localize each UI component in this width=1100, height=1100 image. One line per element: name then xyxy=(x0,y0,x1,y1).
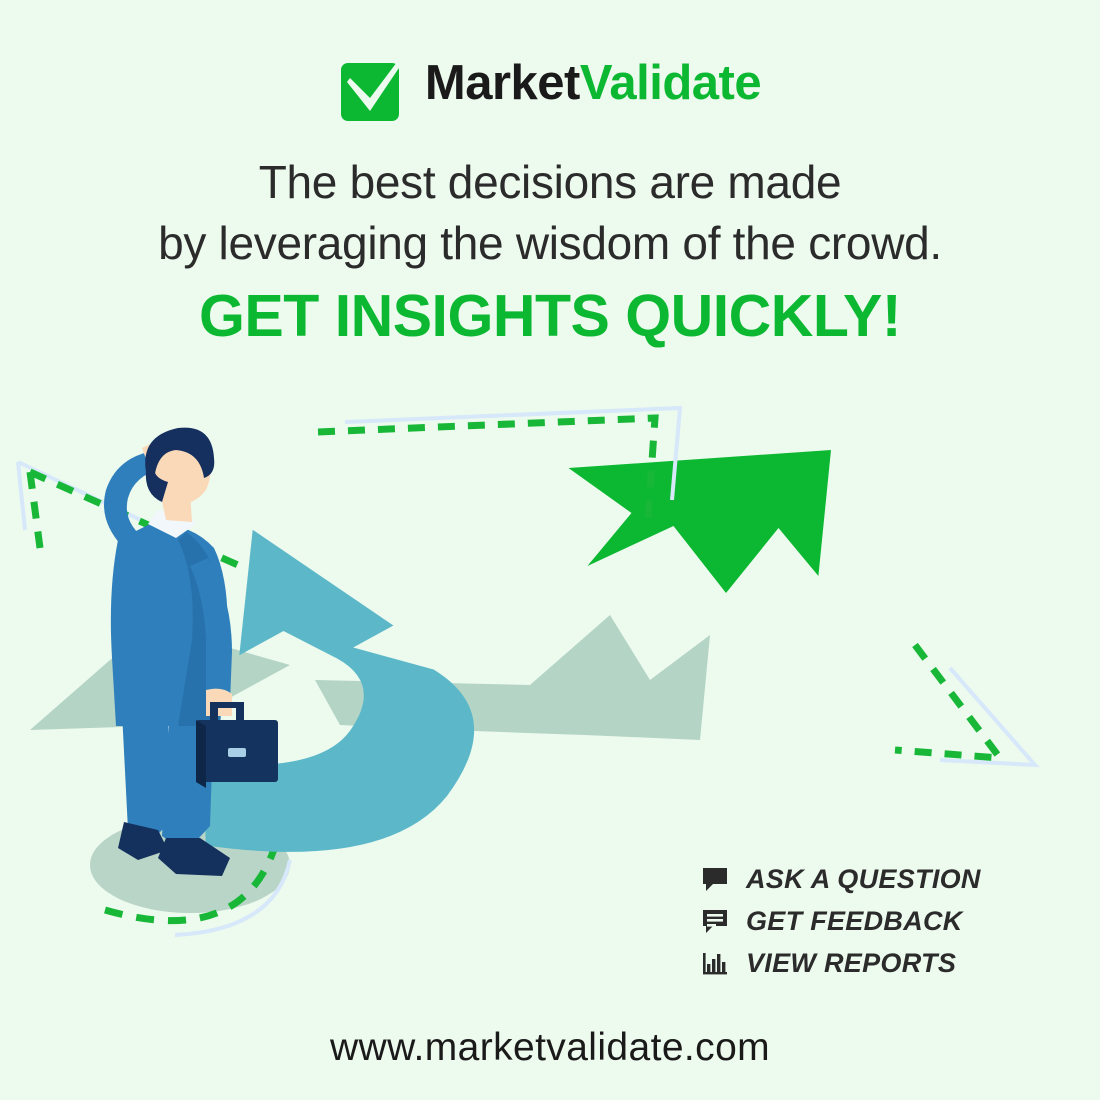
brand-name: MarketValidate xyxy=(425,59,761,110)
feature-label: VIEW REPORTS xyxy=(746,948,956,979)
brand-name-part1: Market xyxy=(425,56,580,110)
feature-label: GET FEEDBACK xyxy=(746,906,963,937)
green-arrow-up-right xyxy=(569,450,832,593)
bar-chart-icon xyxy=(700,948,730,978)
briefcase-side xyxy=(196,720,206,788)
feature-item-view-reports[interactable]: VIEW REPORTS xyxy=(700,944,1030,982)
headline-line-1: The best decisions are made xyxy=(0,152,1100,213)
accent-dash-bottom-right xyxy=(895,645,1000,758)
headline-block: The best decisions are made by leveragin… xyxy=(0,152,1100,350)
green-check-square-icon xyxy=(339,45,411,123)
feedback-bubble-icon xyxy=(700,906,730,936)
feature-item-ask-a-question[interactable]: ASK A QUESTION xyxy=(700,860,1030,898)
briefcase-clasp xyxy=(228,748,246,757)
poster-canvas: MarketValidate The best decisions are ma… xyxy=(0,0,1100,1100)
brand-name-part2: Validate xyxy=(580,56,761,110)
brand-logo[interactable]: MarketValidate xyxy=(0,44,1100,124)
headline-cta-line: GET INSIGHTS QUICKLY! xyxy=(0,283,1100,349)
feature-item-get-feedback[interactable]: GET FEEDBACK xyxy=(700,902,1030,940)
speech-bubble-icon xyxy=(700,864,730,894)
accent-line-bottom-right xyxy=(940,668,1035,765)
feature-label: ASK A QUESTION xyxy=(746,864,981,895)
features-list: ASK A QUESTION GET FEEDBACK xyxy=(700,860,1030,986)
headline-line-2: by leveraging the wisdom of the crowd. xyxy=(0,213,1100,274)
website-url[interactable]: www.marketvalidate.com xyxy=(0,1026,1100,1070)
